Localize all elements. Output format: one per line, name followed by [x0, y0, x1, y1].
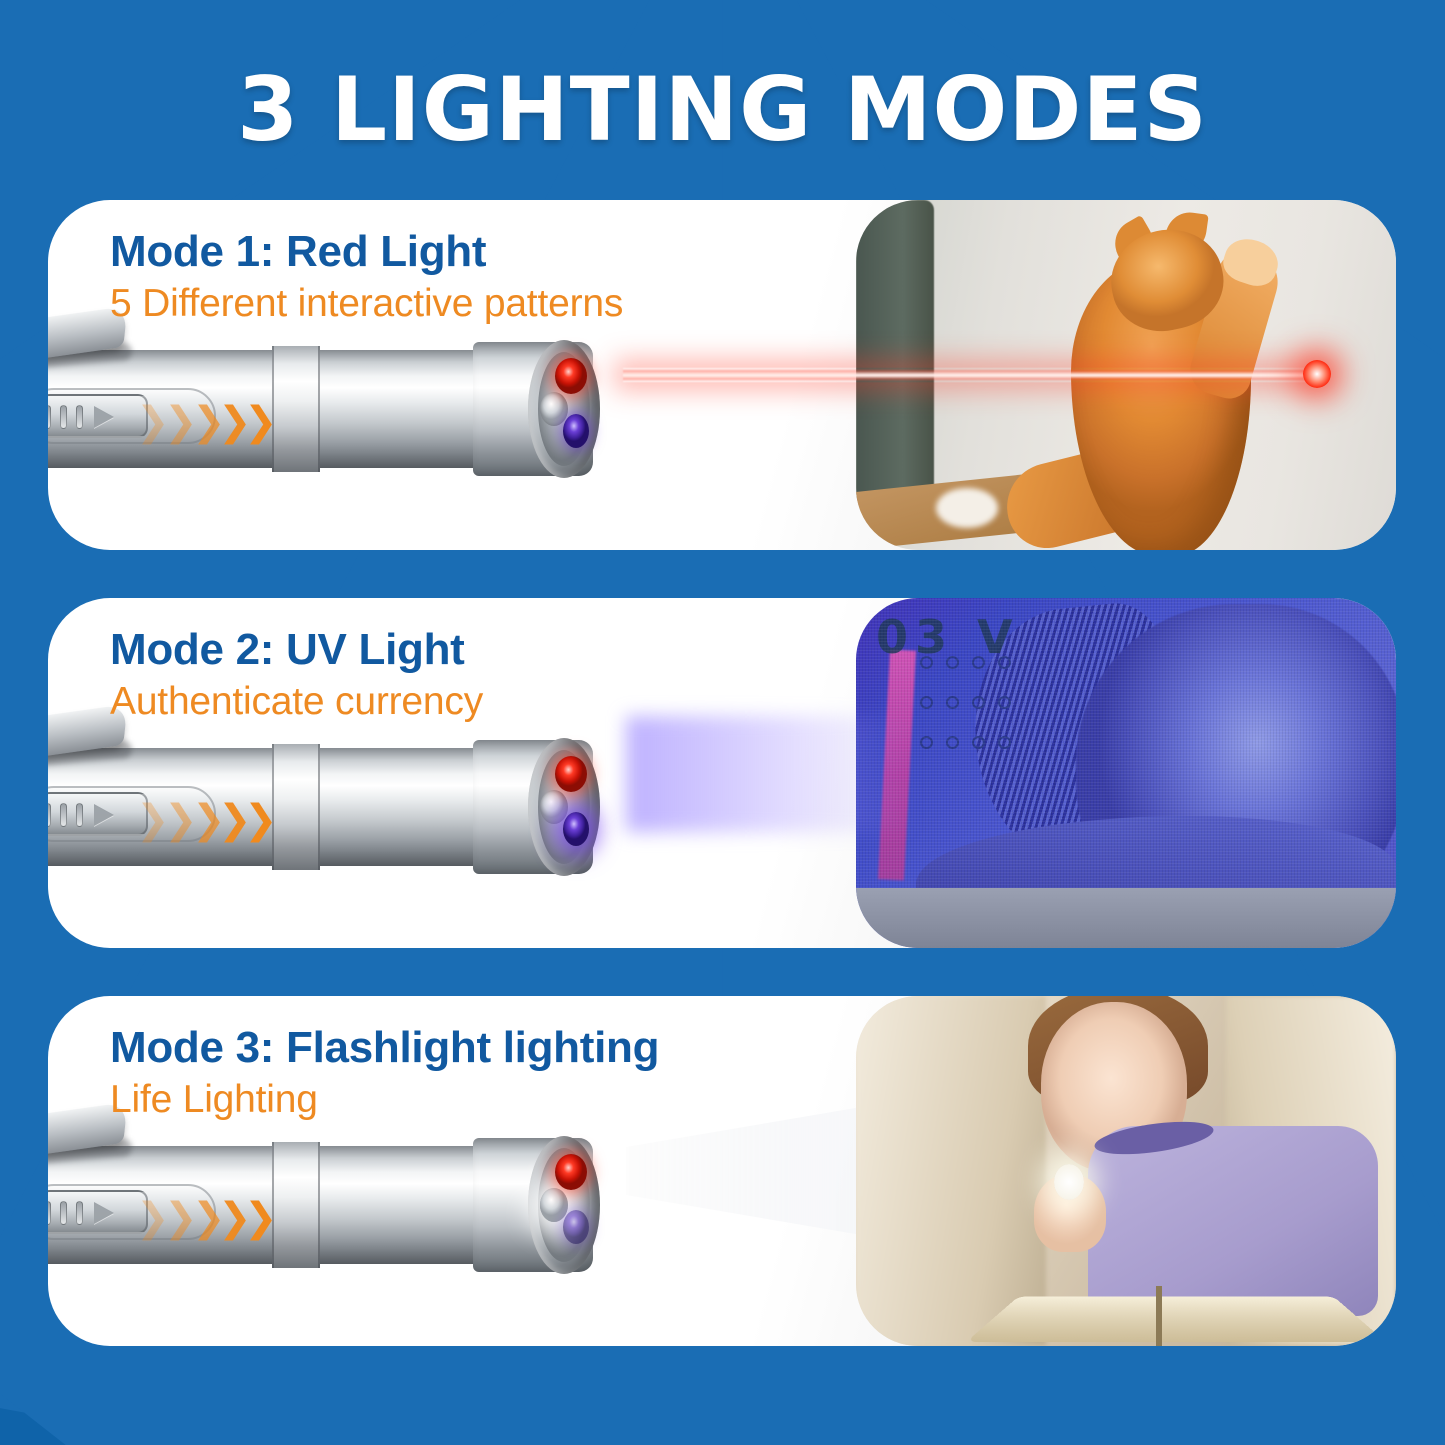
knurled-ring	[272, 1142, 320, 1268]
book-spine	[1156, 1286, 1162, 1346]
mode-1-subheading: 5 Different interactive patterns	[110, 280, 623, 328]
chevron-right-icon: ❯	[244, 1198, 278, 1238]
switch-ridge	[76, 405, 83, 429]
switch-ridge	[48, 405, 51, 429]
play-triangle-icon	[94, 406, 114, 428]
barrel	[48, 1146, 518, 1264]
switch-ridge	[60, 405, 67, 429]
red-laser-beam	[623, 368, 1323, 382]
red-laser-emitter-icon	[555, 358, 587, 394]
switch-ridge	[60, 803, 67, 827]
switch-track	[48, 786, 216, 842]
barrel	[48, 350, 518, 468]
clip-shadow	[48, 740, 133, 766]
switch-track	[48, 388, 216, 444]
curtain	[856, 200, 934, 500]
mode-2-subheading: Authenticate currency	[110, 678, 483, 726]
uv-beam	[626, 716, 916, 832]
mode-3-headings: Mode 3: Flashlight lighting Life Lightin…	[110, 1022, 659, 1123]
chevron-right-icon: ❯	[136, 800, 170, 840]
lens-inner	[538, 750, 590, 864]
head-body	[473, 342, 593, 476]
handheld-flashlight-glow	[1054, 1164, 1084, 1200]
mode-3-heading: Mode 3: Flashlight lighting	[110, 1022, 659, 1074]
blanket-left	[856, 996, 1046, 1346]
chevron-right-icon: ❯	[192, 800, 226, 840]
mode-card-flashlight: Mode 3: Flashlight lighting Life Lightin…	[48, 996, 1396, 1346]
play-triangle-icon	[94, 1202, 114, 1224]
red-laser-dot	[1303, 360, 1331, 388]
slide-switch[interactable]	[48, 394, 148, 438]
chevron-right-icon: ❯	[218, 1198, 252, 1238]
head-body	[473, 740, 593, 874]
chevron-right-icon: ❯	[164, 1198, 198, 1238]
red-laser-emitter-icon	[555, 756, 587, 792]
slide-switch[interactable]	[48, 792, 148, 836]
switch-track	[48, 1184, 216, 1240]
switch-ridge	[48, 803, 51, 827]
mode-1-headings: Mode 1: Red Light 5 Different interactiv…	[110, 226, 623, 327]
switch-ridge	[76, 1201, 83, 1225]
mode-card-red-light: Mode 1: Red Light 5 Different interactiv…	[48, 200, 1396, 550]
chevron-right-icon: ❯	[192, 1198, 226, 1238]
photo-uv-currency: 03 V	[856, 598, 1396, 948]
chevron-right-icon: ❯	[244, 800, 278, 840]
photo-girl-reading	[856, 996, 1396, 1346]
knurled-ring	[272, 744, 320, 870]
chevron-right-icon: ❯	[218, 800, 252, 840]
page-title: 3 LIGHTING MODES	[0, 58, 1445, 161]
chevron-right-icon: ❯	[244, 402, 278, 442]
bezel	[528, 1136, 600, 1274]
white-led-icon	[540, 790, 568, 824]
lens-inner	[538, 1148, 590, 1262]
chevron-right-icon: ❯	[136, 1198, 170, 1238]
mode-3-subheading: Life Lighting	[110, 1076, 659, 1124]
head-body	[473, 1138, 593, 1272]
uv-led-icon	[563, 1210, 589, 1244]
mode-2-headings: Mode 2: UV Light Authenticate currency	[110, 624, 483, 725]
knurled-ring	[272, 346, 320, 472]
barrel	[48, 748, 518, 866]
uv-scene: 03 V	[856, 598, 1396, 948]
red-laser-emitter-icon	[555, 1154, 587, 1190]
lens-inner	[538, 352, 590, 466]
cat-tail	[936, 488, 998, 528]
chevron-right-icon: ❯	[218, 402, 252, 442]
switch-ridge	[60, 1201, 67, 1225]
slide-switch[interactable]	[48, 1190, 148, 1234]
switch-ridge	[76, 803, 83, 827]
chevron-right-icon: ❯	[192, 402, 226, 442]
white-led-icon	[540, 1188, 568, 1222]
switch-ridge	[48, 1201, 51, 1225]
chevron-right-icon: ❯	[136, 402, 170, 442]
clip-shadow	[48, 1138, 133, 1164]
bezel	[528, 340, 600, 478]
uv-led-icon	[563, 812, 589, 846]
banknote-edge	[856, 888, 1396, 948]
clip-shadow	[48, 342, 133, 368]
mode-card-uv-light: 03 V Mode 2: UV Light Authenticate curre…	[48, 598, 1396, 948]
chevron-right-icon: ❯	[164, 402, 198, 442]
mode-2-heading: Mode 2: UV Light	[110, 624, 483, 676]
chevron-right-icon: ❯	[164, 800, 198, 840]
mode-1-heading: Mode 1: Red Light	[110, 226, 623, 278]
bezel	[528, 738, 600, 876]
girl-shirt	[1088, 1126, 1378, 1316]
white-led-icon	[540, 392, 568, 426]
girl-scene	[856, 996, 1396, 1346]
uv-led-icon	[563, 414, 589, 448]
play-triangle-icon	[94, 804, 114, 826]
